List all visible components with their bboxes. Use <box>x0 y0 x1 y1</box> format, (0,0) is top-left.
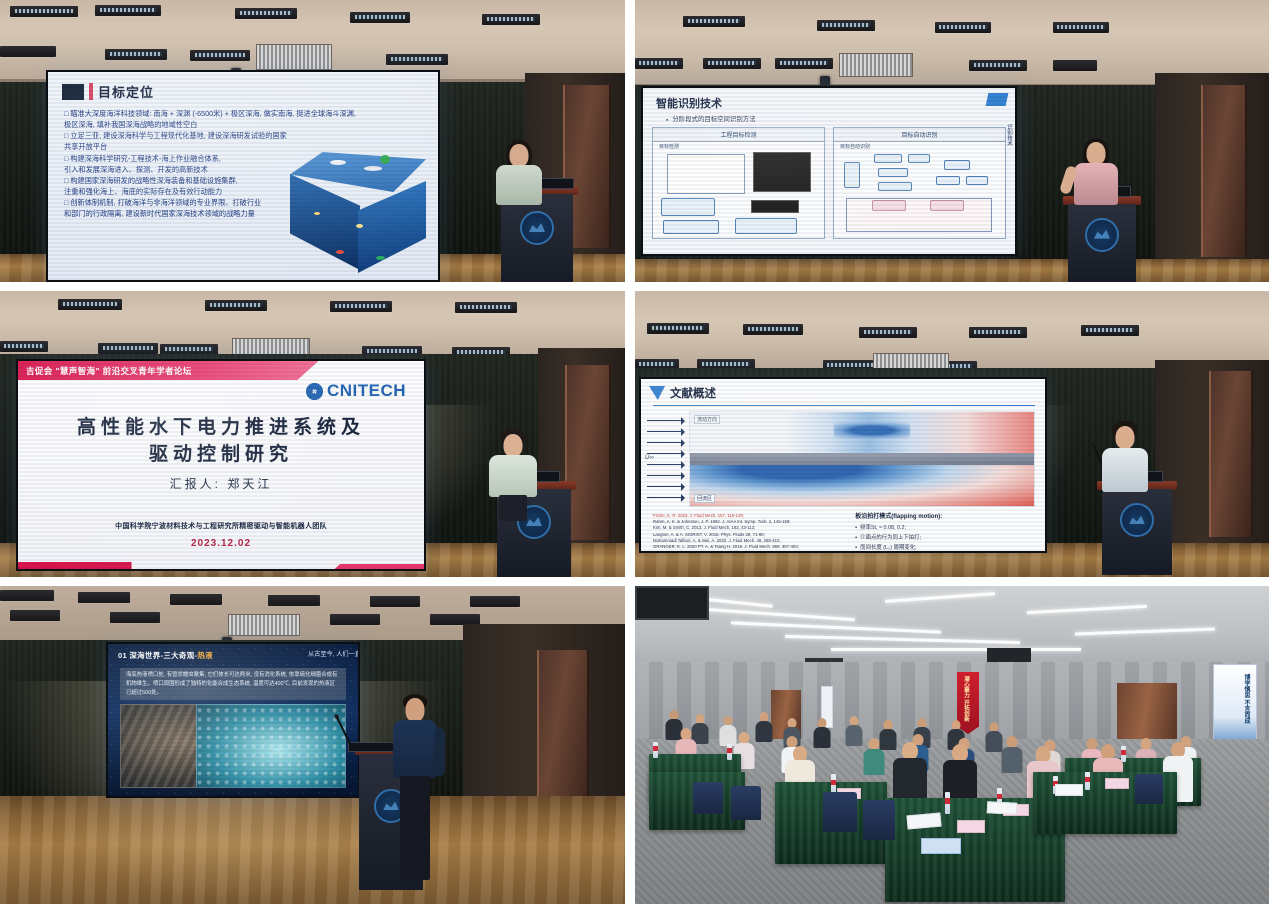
photo-speaker-literature-slide: 文献概述 U∞ <box>635 291 1269 577</box>
diagram-node <box>966 176 988 185</box>
audience-person <box>813 718 831 748</box>
ceiling-light <box>482 14 540 25</box>
diagram-node <box>936 176 960 185</box>
slide-date: 2023.12.02 <box>18 538 424 549</box>
slide-body: □ 瞄准大深度海洋科技领域: 南海 + 深渊 (-6500米) + 极区深海, … <box>56 106 430 222</box>
ceiling-light <box>330 614 380 625</box>
list-item: 介面点的行为同上下拍打; <box>855 533 1033 541</box>
ceiling-light <box>0 46 56 57</box>
reference-item: Feng, X., Tanaka, M. & Liu, D. 2021. J. … <box>653 550 839 551</box>
collage-panel-4: 文献概述 U∞ <box>635 291 1269 586</box>
ship-icon <box>380 155 390 164</box>
water-bottle <box>653 742 658 758</box>
documents <box>906 813 941 830</box>
head <box>1087 142 1106 165</box>
legs <box>499 495 527 521</box>
door <box>1209 371 1253 537</box>
ceiling-light <box>110 612 160 623</box>
seabed-node-icon <box>376 256 385 260</box>
audience-person <box>845 716 863 746</box>
chair <box>823 792 857 832</box>
water-bottle <box>1085 772 1090 790</box>
air-vent <box>256 44 332 70</box>
ceiling-light <box>350 12 410 23</box>
podium-emblem-icon <box>1085 218 1119 252</box>
slide-header-highlight: 热液 <box>197 651 213 660</box>
audience-person <box>1001 736 1023 772</box>
photo-speaker-recognition-slide: 智能识别技术 分阶段式的目标空间识别方法 工程目标检测 目标检测 <box>635 0 1269 282</box>
title-line-1: 高性能水下电力推进系统及 <box>18 413 424 441</box>
diagram-node <box>872 200 906 211</box>
torso <box>864 749 885 775</box>
submersible-icon <box>356 224 363 228</box>
arrow-icon <box>647 426 691 437</box>
deep-sea-cube-figure <box>284 152 434 277</box>
submersible-icon <box>314 212 320 215</box>
sample-image <box>753 152 811 192</box>
slide-side-label: 识别技术 <box>1005 124 1013 146</box>
slide-bottom-bar-accent <box>335 564 424 569</box>
diagram-node <box>930 200 964 211</box>
ceiling-light <box>647 323 709 334</box>
ceiling-light <box>170 594 222 605</box>
arrow-icon <box>647 492 691 503</box>
header-rule <box>653 405 1035 406</box>
pipeline-figure <box>846 198 992 232</box>
water-bottle <box>945 792 950 814</box>
collage-panel-3: 吉促会 "慧声智海" 前沿交叉青年学者论坛 CNITECH 高性能水下电力推进系… <box>0 291 635 586</box>
ceiling-light-strip <box>831 648 1081 651</box>
torso <box>986 731 1003 752</box>
ceiling-light <box>1053 22 1109 33</box>
cube-right-face <box>358 181 426 273</box>
slide-columns: 工程目标检测 目标检测 目标自动识别 <box>652 127 1006 239</box>
arm <box>434 728 445 776</box>
ceiling-light <box>470 596 520 607</box>
torso <box>814 727 831 748</box>
header-accent-bar <box>89 83 93 100</box>
podium <box>1063 196 1141 282</box>
list-item: 而间长度 (L₀) 周期变化; <box>855 543 1033 551</box>
torso <box>489 455 537 497</box>
diagram-node <box>874 154 902 163</box>
documents <box>1055 784 1083 796</box>
ceiling-light <box>235 8 297 19</box>
projection-screen: 文献概述 U∞ <box>641 379 1045 551</box>
speaker-person <box>1067 138 1125 200</box>
arrow-icon <box>647 415 691 426</box>
ceiling-light <box>969 327 1027 338</box>
cnitech-logo: CNITECH <box>306 381 406 401</box>
audience-scene: 凝心聚力 开拓创新 博学慎思 不言而成 <box>635 586 1269 904</box>
column-body: 目标自动识别 <box>834 142 1005 238</box>
podium-emblem-icon <box>1120 503 1154 537</box>
air-vent <box>228 614 300 636</box>
slide-title: 目标定位 <box>98 82 154 101</box>
slide-title: 智能识别技术 <box>656 95 1006 111</box>
presenter-name: 汇报人: 郑天江 <box>18 475 424 492</box>
reference-list: Fricke, K. R. 2023. J. Fluid Mech. 157, … <box>653 513 839 551</box>
diagram-node <box>844 162 860 188</box>
podium <box>1097 481 1177 575</box>
corner-flag-icon <box>986 93 1009 106</box>
speaker-person <box>482 429 544 493</box>
organization-line: 中国科学院宁波材料技术与工程研究所精密驱动与智能机器人团队 <box>18 521 424 531</box>
torso <box>496 165 542 205</box>
ceiling-light <box>98 343 158 354</box>
ceiling-light <box>859 327 917 338</box>
slide-main-title: 高性能水下电力推进系统及 驱动控制研究 汇报人: 郑天江 <box>18 413 424 491</box>
red-banner-text: 凝心聚力 开拓创新 <box>962 676 970 722</box>
cfd-plate <box>690 453 1034 464</box>
diagram-node <box>661 198 715 216</box>
ceiling-light <box>817 20 875 31</box>
documents <box>921 838 961 854</box>
right-banner-text: 博学慎思 不言而成 <box>1242 674 1251 724</box>
right-column-title: 板沿拍打模式(flapping motion): <box>855 511 1033 520</box>
diagram-node <box>663 220 719 234</box>
chair <box>731 786 761 820</box>
arrow-icon <box>647 437 691 448</box>
torso <box>1002 747 1023 773</box>
ceiling-light <box>10 610 60 621</box>
audience-person <box>755 712 773 742</box>
projection-screen: 01 深海世界-三大奇观-热液 从古至今, 人们一直在问一个问题: 深海到底有什… <box>108 644 358 796</box>
air-vent <box>839 53 913 77</box>
column-label: 目标检测 <box>659 143 679 150</box>
ceiling-light <box>0 590 54 601</box>
slide-header-row: 目标定位 <box>62 82 430 101</box>
diagram-node <box>944 160 970 170</box>
title-line-2: 驱动控制研究 <box>18 441 424 469</box>
ceiling-light <box>386 54 448 65</box>
seabed-node-icon <box>336 250 344 254</box>
diagram-node <box>878 182 912 191</box>
slide-bullet: 极区深海, 填补我国深海战略的地域性空白 <box>64 119 422 130</box>
collage-panel-1: 目标定位 □ 瞄准大深度海洋科技领域: 南海 + 深渊 (-6500米) + 极… <box>0 0 635 291</box>
torso <box>1074 163 1118 205</box>
ceiling-light <box>190 50 250 61</box>
torso <box>756 721 773 742</box>
legs <box>400 776 430 880</box>
slide-bullet: 共享开放平台 <box>64 141 422 152</box>
ship-icon <box>364 166 382 171</box>
diagram-node <box>908 154 930 163</box>
ceiling-light <box>1081 325 1139 336</box>
ceiling-light <box>58 299 122 310</box>
diagram-node <box>878 168 908 177</box>
photo-audience: 凝心聚力 开拓创新 博学慎思 不言而成 <box>635 586 1269 904</box>
inflow-label: U∞ <box>645 455 654 461</box>
ceiling-light <box>935 22 991 33</box>
ceiling-light <box>775 58 833 69</box>
slide-header: 01 深海世界-三大奇观-热液 <box>118 650 213 661</box>
cnitech-wordmark: CNITECH <box>327 381 406 401</box>
projection-screen: 吉促会 "慧声智海" 前沿交叉青年学者论坛 CNITECH 高性能水下电力推进系… <box>18 361 424 569</box>
ceiling-light <box>743 324 803 335</box>
header-triangle-icon <box>649 386 665 400</box>
ceiling-light <box>635 58 683 69</box>
collage-panel-2: 智能识别技术 分阶段式的目标空间识别方法 工程目标检测 目标检测 <box>635 0 1269 291</box>
slide-bullet: □ 立足三亚, 建设深海科学与工程现代化基地, 建设深海研发试验的国家 <box>64 130 422 141</box>
collage-panel-6: 凝心聚力 开拓创新 博学慎思 不言而成 <box>635 586 1269 904</box>
slide-column: 工程目标检测 目标检测 <box>652 127 825 239</box>
scatter-plot <box>667 154 745 194</box>
slide-title: 文献概述 <box>670 385 716 401</box>
name-card <box>1105 778 1129 789</box>
torso <box>846 725 863 746</box>
slide-photo-right <box>196 704 346 788</box>
figure-tag-top: 流动方向 <box>694 415 720 424</box>
sample-image <box>751 200 799 213</box>
documents <box>987 801 1018 815</box>
photo-speaker-title-slide: 吉促会 "慧声智海" 前沿交叉青年学者论坛 CNITECH 高性能水下电力推进系… <box>0 291 625 577</box>
door <box>537 650 589 815</box>
ceiling-light <box>205 300 267 311</box>
head <box>504 434 523 457</box>
ceiling-light <box>0 341 48 352</box>
water-bottle <box>727 744 732 760</box>
slide-question: 从古至今, 人们一直在问一个问题: 深海到底有什么? <box>308 649 358 658</box>
torso <box>393 720 437 778</box>
diagram-node <box>735 218 797 234</box>
floor <box>635 259 1269 282</box>
arrow-icon <box>647 481 691 492</box>
head <box>1116 426 1135 449</box>
speaker-person <box>1095 421 1155 487</box>
speaker-person <box>386 694 444 890</box>
ship-icon <box>330 160 346 165</box>
chair <box>693 782 723 814</box>
ceiling-light <box>455 302 517 313</box>
ceiling-light <box>1053 60 1097 71</box>
cnitech-mark-icon <box>306 383 323 400</box>
column-label: 目标自动识别 <box>840 143 870 150</box>
column-header: 目标自动识别 <box>834 128 1005 142</box>
projection-screen: 智能识别技术 分阶段式的目标空间识别方法 工程目标检测 目标检测 <box>643 88 1015 254</box>
ceiling <box>635 586 1269 669</box>
ceiling-light <box>268 595 320 606</box>
ceiling-light <box>105 49 167 60</box>
speaker-person <box>490 140 548 200</box>
collage-panel-5: 01 深海世界-三大奇观-热液 从古至今, 人们一直在问一个问题: 深海到底有什… <box>0 586 635 904</box>
column-header: 工程目标检测 <box>653 128 824 142</box>
slide-paragraph: 海底热液喷口处, 有管状蠕虫聚集, 它们体长可达两米, 没有消化系统, 依靠硫化… <box>120 668 346 700</box>
audience-person <box>863 738 885 774</box>
slide-header-text: 01 深海世界-三大奇观- <box>118 651 197 660</box>
arrow-icon <box>647 470 691 481</box>
slide-column: 目标自动识别 目标自动识别 <box>833 127 1006 239</box>
water-bottle <box>831 774 836 794</box>
slide-header-row: 文献概述 <box>649 385 1037 401</box>
door <box>1201 85 1247 257</box>
ceiling-light <box>683 16 745 27</box>
photo-speaker-deepsea-slide: 01 深海世界-三大奇观-热液 从古至今, 人们一直在问一个问题: 深海到底有什… <box>0 586 625 904</box>
cfd-vortex <box>834 423 910 438</box>
ceiling-light <box>330 301 392 312</box>
cfd-lower-field <box>690 465 1034 506</box>
torso <box>1102 448 1148 492</box>
slide-right-column: 板沿拍打模式(flapping motion): 频率St, ≈ 0.08, 0… <box>855 511 1033 551</box>
ceiling-monitor <box>635 586 709 620</box>
cfd-figure: 流动方向 回流区 <box>689 411 1035 507</box>
projection-screen: 目标定位 □ 瞄准大深度海洋科技领域: 南海 + 深渊 (-6500米) + 极… <box>48 72 438 280</box>
column-body: 目标检测 <box>653 142 824 238</box>
slide-bullet: □ 瞄准大深度海洋科技领域: 南海 + 深渊 (-6500米) + 极区深海, … <box>64 108 422 119</box>
list-item: 频率St, ≈ 0.08, 0.2; <box>855 523 1033 531</box>
head <box>406 698 425 722</box>
ceiling-light <box>370 596 420 607</box>
name-card <box>957 820 985 833</box>
right-bullet-list: 频率St, ≈ 0.08, 0.2; 介面点的行为同上下拍打; 而间长度 (L₀… <box>855 523 1033 551</box>
cube-left-face <box>290 174 360 270</box>
ceiling-light <box>10 6 78 17</box>
figure-tag-bottom: 回流区 <box>694 494 715 503</box>
slide-subtitle: 分阶段式的目标空间识别方法 <box>666 114 1006 123</box>
head <box>510 144 529 167</box>
slide-banner: 吉促会 "慧声智海" 前沿交叉青年学者论坛 <box>18 361 318 380</box>
ceiling-light <box>703 58 761 69</box>
podium-emblem-icon <box>520 211 554 245</box>
photo-speaker-goal-slide: 目标定位 □ 瞄准大深度海洋科技领域: 南海 + 深渊 (-6500米) + 极… <box>0 0 625 282</box>
banner-text: 吉促会 "慧声智海" 前沿交叉青年学者论坛 <box>26 365 192 377</box>
chair <box>863 800 895 840</box>
chair <box>1135 774 1163 804</box>
ceiling-light <box>78 592 130 603</box>
ceiling-light <box>95 5 161 16</box>
ceiling-light <box>969 60 1027 71</box>
photo-collage: 目标定位 □ 瞄准大深度海洋科技领域: 南海 + 深渊 (-6500米) + 极… <box>0 0 1269 904</box>
header-block <box>62 84 84 100</box>
